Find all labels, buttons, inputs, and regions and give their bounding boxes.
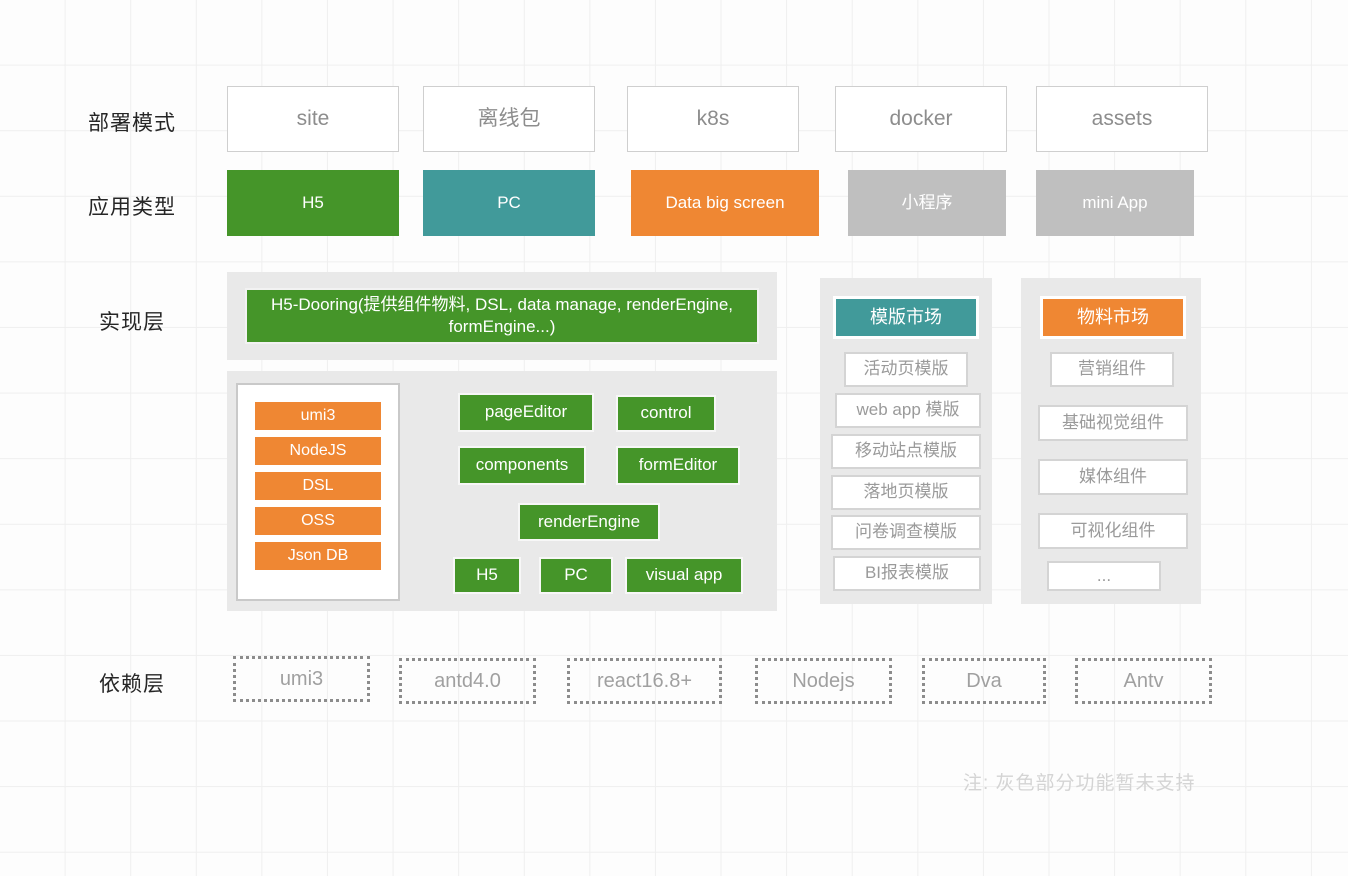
template-item-mobile-site[interactable]: 移动站点模版 <box>831 434 981 469</box>
module-visual-app[interactable]: visual app <box>625 557 743 594</box>
dependency-react16[interactable]: react16.8+ <box>567 658 722 704</box>
module-page-editor[interactable]: pageEditor <box>458 393 594 432</box>
row-label-implementation: 实现层 <box>57 306 207 336</box>
dependency-dva[interactable]: Dva <box>922 658 1046 704</box>
dependency-nodejs[interactable]: Nodejs <box>755 658 892 704</box>
material-item-marketing-components[interactable]: 营销组件 <box>1050 352 1174 387</box>
deploy-mode-offline-package[interactable]: 离线包 <box>423 86 595 152</box>
app-type-pc[interactable]: PC <box>423 170 595 236</box>
row-label-deploy: 部署模式 <box>57 107 207 137</box>
material-market-header[interactable]: 物料市场 <box>1040 296 1186 339</box>
app-type-mini-app[interactable]: mini App <box>1036 170 1194 236</box>
material-item-more[interactable]: ... <box>1047 561 1161 591</box>
template-item-web-app[interactable]: web app 模版 <box>835 393 981 428</box>
template-item-questionnaire[interactable]: 问卷调查模版 <box>831 515 981 550</box>
template-item-bi-report[interactable]: BI报表模版 <box>833 556 981 591</box>
row-label-dependency: 依赖层 <box>57 668 207 698</box>
module-components[interactable]: components <box>458 446 586 485</box>
implementation-header-box[interactable]: H5-Dooring(提供组件物料, DSL, data manage, ren… <box>245 288 759 344</box>
deploy-mode-site[interactable]: site <box>227 86 399 152</box>
module-pc[interactable]: PC <box>539 557 613 594</box>
app-type-mini-program[interactable]: 小程序 <box>848 170 1006 236</box>
deploy-mode-docker[interactable]: docker <box>835 86 1007 152</box>
dependency-antd4[interactable]: antd4.0 <box>399 658 536 704</box>
stack-item-nodejs[interactable]: NodeJS <box>254 436 382 466</box>
dependency-antv[interactable]: Antv <box>1075 658 1212 704</box>
stack-item-json-db[interactable]: Json DB <box>254 541 382 571</box>
module-h5[interactable]: H5 <box>453 557 521 594</box>
template-item-landing-page[interactable]: 落地页模版 <box>831 475 981 510</box>
module-render-engine[interactable]: renderEngine <box>518 503 660 541</box>
material-item-basic-visual-components[interactable]: 基础视觉组件 <box>1038 405 1188 441</box>
stack-item-umi3[interactable]: umi3 <box>254 401 382 431</box>
dependency-umi3[interactable]: umi3 <box>233 656 370 702</box>
architecture-diagram-canvas: 部署模式 应用类型 实现层 依赖层 site 离线包 k8s docker as… <box>0 0 1348 876</box>
deploy-mode-k8s[interactable]: k8s <box>627 86 799 152</box>
stack-item-oss[interactable]: OSS <box>254 506 382 536</box>
row-label-app-type: 应用类型 <box>57 191 207 221</box>
app-type-h5[interactable]: H5 <box>227 170 399 236</box>
material-item-visualization-components[interactable]: 可视化组件 <box>1038 513 1188 549</box>
material-item-media-components[interactable]: 媒体组件 <box>1038 459 1188 495</box>
app-type-data-big-screen[interactable]: Data big screen <box>631 170 819 236</box>
stack-item-dsl[interactable]: DSL <box>254 471 382 501</box>
deploy-mode-assets[interactable]: assets <box>1036 86 1208 152</box>
footnote-text: 注: 灰色部分功能暂未支持 <box>963 768 1196 795</box>
module-form-editor[interactable]: formEditor <box>616 446 740 485</box>
template-market-header[interactable]: 模版市场 <box>833 296 979 339</box>
template-item-activity-page[interactable]: 活动页模版 <box>844 352 968 387</box>
module-control[interactable]: control <box>616 395 716 432</box>
